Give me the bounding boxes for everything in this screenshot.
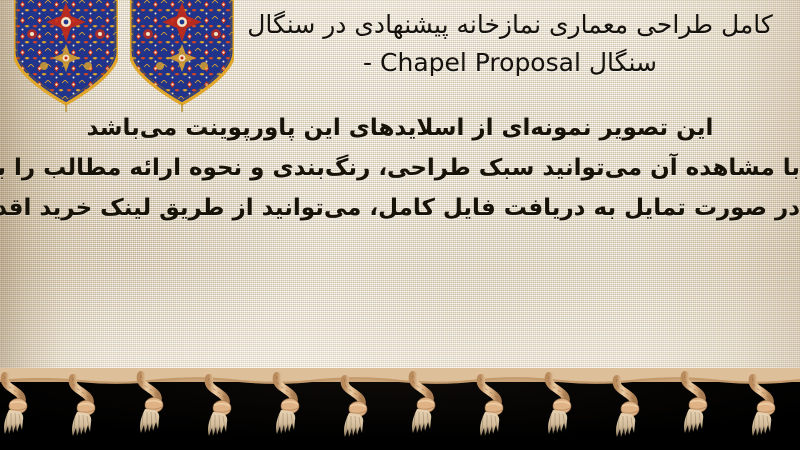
slide-canvas: کامل طراحی معماری نمازخانه پیشنهادی در س… [0, 0, 800, 450]
slide-title-line-2-latin: Chapel Proposal [380, 44, 581, 82]
body-line-1: این تصویر نمونه‌ای از اسلایدهای این پاور… [0, 108, 800, 148]
slide-title-line-2-persian: سنگال [589, 48, 657, 77]
body-line-2: با مشاهده آن می‌توانید سبک طراحی، رنگ‌بن… [0, 148, 800, 188]
slide-title-line-2-dash: - [363, 48, 372, 77]
text-layer: کامل طراحی معماری نمازخانه پیشنهادی در س… [0, 0, 800, 392]
slide-body-text: این تصویر نمونه‌ای از اسلایدهای این پاور… [0, 108, 800, 228]
slide-title-line-2: سنگال Chapel Proposal - [363, 48, 657, 77]
body-line-3: در صورت تمایل به دریافت فایل کامل، می‌تو… [0, 188, 800, 228]
slide-title-line-1: کامل طراحی معماری نمازخانه پیشنهادی در س… [247, 10, 773, 39]
dark-bottom-band [0, 382, 800, 450]
slide-title: کامل طراحی معماری نمازخانه پیشنهادی در س… [230, 6, 790, 82]
